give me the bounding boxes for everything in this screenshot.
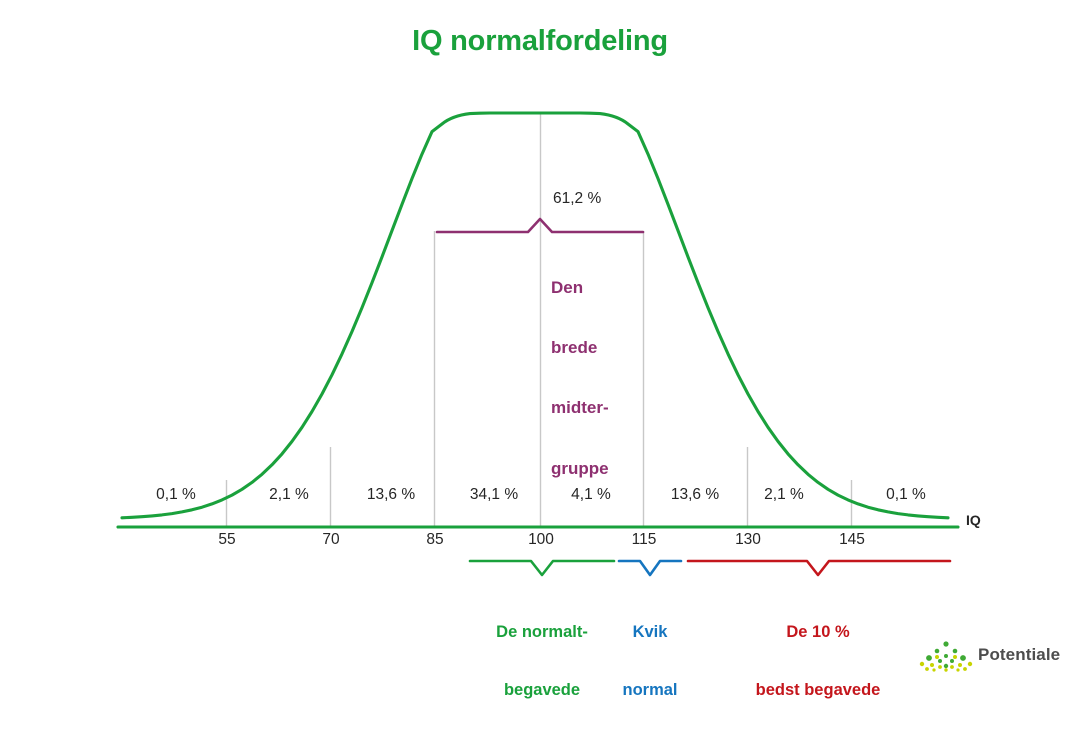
chart-canvas: IQ normalfordeling 0,1 % 2,1 % 13,6 % 34… (0, 0, 1080, 675)
logo-wordmark: Potentiale (978, 645, 1060, 665)
x-tick-label-145: 145 (839, 531, 865, 549)
segment-percent-label: 34,1 % (470, 486, 518, 504)
normally-gifted-line-1: De normalt- (496, 623, 588, 642)
middle-band-text: Den brede midter- gruppe (551, 238, 609, 519)
logo-dots-icon (916, 637, 976, 673)
quick-normal-line-2: normal (622, 681, 677, 700)
middle-band-percent-label: 61,2 % (553, 190, 601, 208)
quick-normal-label: Kvik normal (622, 584, 677, 740)
bell-curve (122, 113, 948, 518)
x-tick-label-70: 70 (322, 531, 339, 549)
segment-percent-label: 13,6 % (671, 486, 719, 504)
top-ten-percent-line-2: bedst begavede (756, 681, 881, 700)
potentiale-logo: Potentiale (916, 637, 1072, 673)
segment-percent-label: 0,1 % (156, 486, 196, 504)
middle-band-line-1: Den (551, 278, 609, 298)
x-tick-label-85: 85 (426, 531, 443, 549)
gridlines (227, 114, 852, 527)
normally-gifted-label: De normalt- begavede (496, 584, 588, 740)
quick-normal-line-1: Kvik (622, 623, 677, 642)
x-tick-label-100: 100 (528, 531, 554, 549)
middle-band-line-2: brede (551, 338, 609, 358)
segment-percent-label: 2,1 % (269, 486, 309, 504)
top-ten-percent-label: De 10 % bedst begavede (756, 584, 881, 740)
page-title: IQ normalfordeling (0, 24, 1080, 58)
middle-band-line-3: midter- (551, 398, 609, 418)
normally-gifted-bracket (470, 561, 614, 575)
x-tick-label-115: 115 (632, 531, 657, 549)
quick-normal-bracket (619, 561, 681, 575)
segment-percent-label: 13,6 % (367, 486, 415, 504)
x-axis-label: IQ (966, 512, 981, 529)
x-tick-label-130: 130 (735, 531, 761, 549)
x-tick-label-55: 55 (218, 531, 235, 549)
segment-percent-label: 0,1 % (886, 486, 926, 504)
middle-band-line-4: gruppe (551, 459, 609, 479)
segment-percent-label: 2,1 % (764, 486, 804, 504)
normal-distribution-plot (0, 0, 1080, 675)
top-ten-percent-line-1: De 10 % (756, 623, 881, 642)
top-ten-percent-bracket (688, 561, 950, 575)
normally-gifted-line-2: begavede (496, 681, 588, 700)
